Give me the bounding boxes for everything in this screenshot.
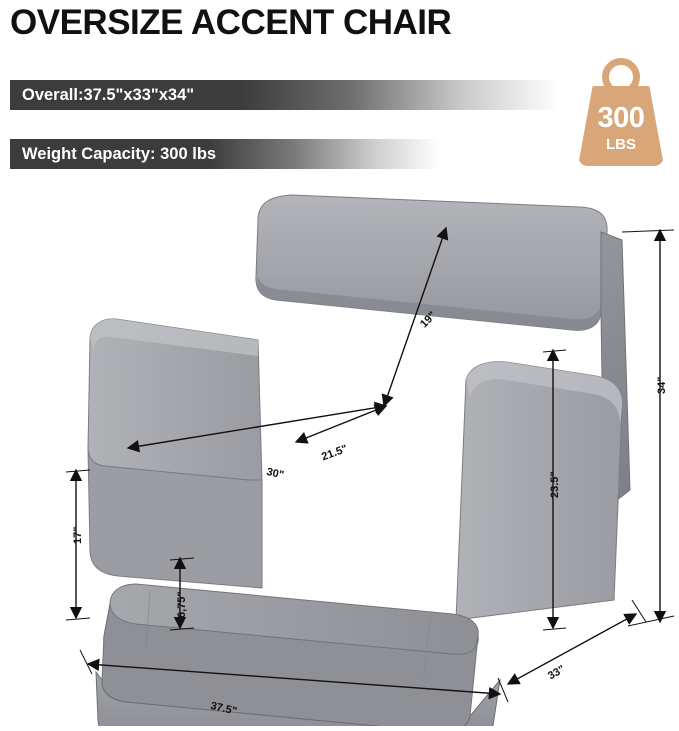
dim-label-leg-height: 6,75" [176,591,188,618]
dim-label-overall-height: 34" [656,377,668,394]
chair-illustration: 19" 21.5" 30" 34" 23.5" 17" 6,75" 33" 37… [0,180,679,726]
weight-badge-unit: LBS [578,136,664,153]
weight-badge-value: 300 [578,102,664,135]
spec-banner-weight-capacity: Weight Capacity: 300 lbs [10,139,440,169]
spec-banner-overall: Overall:37.5"x33"x34" [10,80,560,110]
product-dimension-infographic: OVERSIZE ACCENT CHAIR Overall:37.5"x33"x… [0,0,679,726]
weight-capacity-badge: 300 LBS [578,58,664,178]
dim-label-seat-height: 17" [72,527,84,544]
page-title: OVERSIZE ACCENT CHAIR [10,3,451,43]
dim-label-arm-height: 23.5" [549,471,561,498]
